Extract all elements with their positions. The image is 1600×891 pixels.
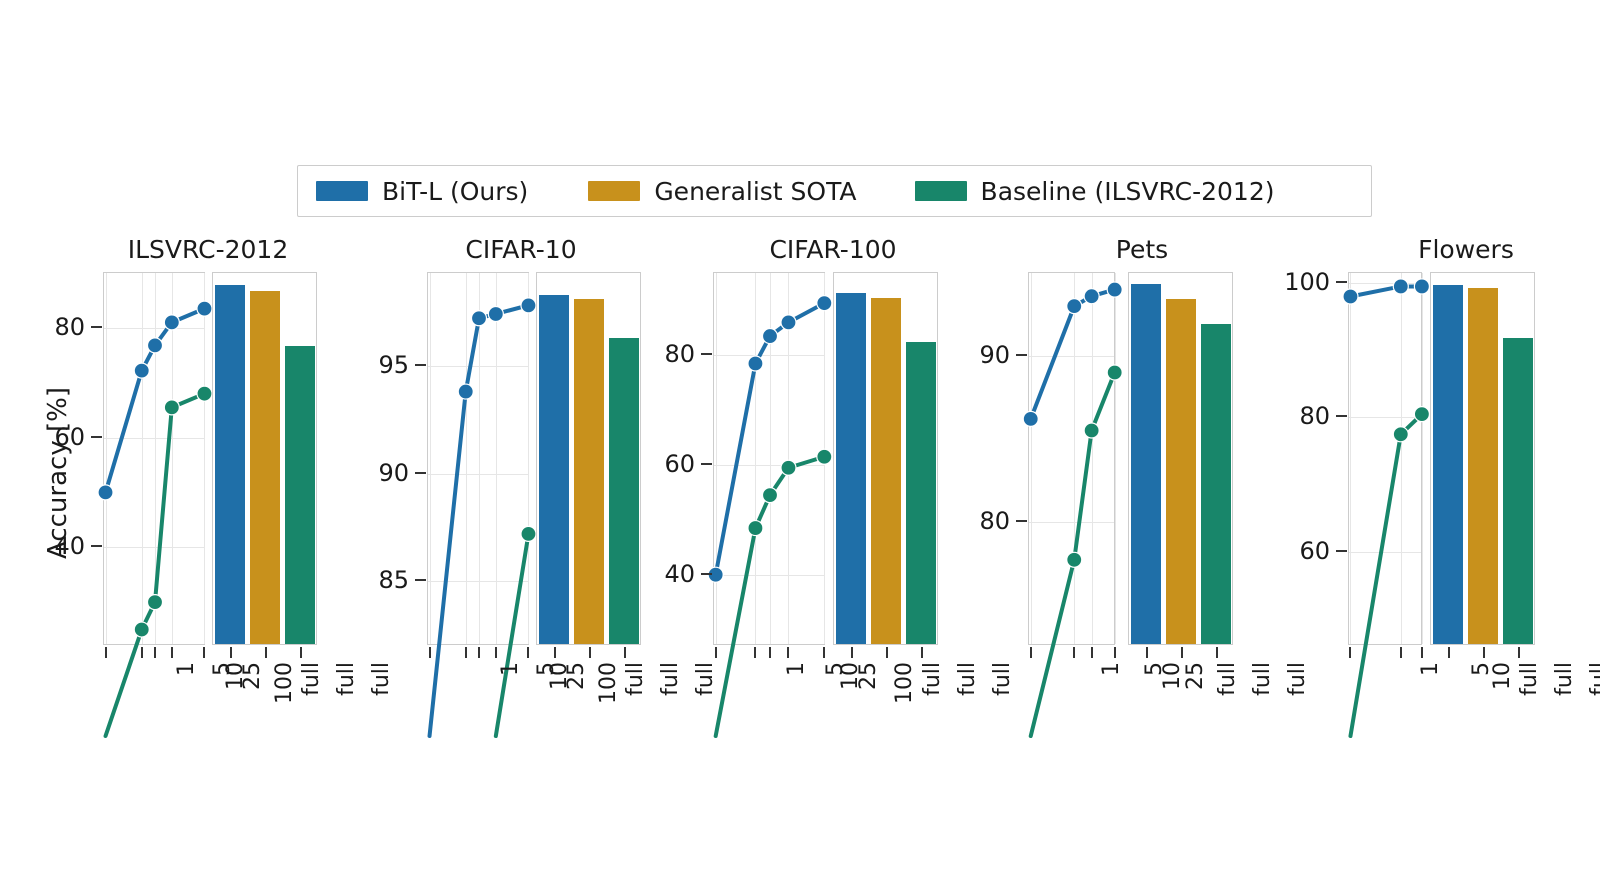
line-series-group xyxy=(104,273,206,646)
data-point xyxy=(458,384,473,399)
line-series-group xyxy=(714,273,826,646)
data-point xyxy=(1084,423,1099,438)
data-point xyxy=(148,595,163,610)
x-tick-label: full xyxy=(693,662,718,722)
y-tick-label: 80 xyxy=(908,507,1010,535)
x-tick-mark xyxy=(823,647,825,658)
x-tick-mark xyxy=(429,647,431,658)
x-tick-mark xyxy=(171,647,173,658)
legend-entry-bit_l[interactable]: BiT-L (Ours) xyxy=(316,177,528,206)
x-tick-mark xyxy=(1518,647,1520,658)
x-tick-mark xyxy=(527,647,529,658)
x-tick-label: full xyxy=(658,662,683,722)
x-tick-label: full xyxy=(299,662,324,722)
x-tick-label: full xyxy=(334,662,359,722)
y-tick-mark xyxy=(701,463,712,465)
x-tick-mark xyxy=(478,647,480,658)
data-point xyxy=(781,460,796,475)
data-point xyxy=(763,329,778,344)
line-path xyxy=(1350,414,1421,736)
x-tick-label: 100 xyxy=(272,662,297,722)
legend-swatch-generalist_sota xyxy=(588,181,640,201)
y-tick-mark xyxy=(1336,281,1347,283)
x-tick-label: 1 xyxy=(498,662,523,722)
y-tick-label: 90 xyxy=(307,459,409,487)
bar-bit-l-ours[interactable] xyxy=(1131,284,1161,644)
x-tick-mark xyxy=(715,647,717,658)
y-tick-mark xyxy=(701,573,712,575)
x-tick-mark xyxy=(1483,647,1485,658)
y-tick-mark xyxy=(91,545,102,547)
x-tick-mark xyxy=(921,647,923,658)
bar-baseline-ilsvrc-2012[interactable] xyxy=(1503,338,1533,644)
x-tick-mark xyxy=(1448,647,1450,658)
line-series-group xyxy=(428,273,530,646)
data-point xyxy=(521,298,536,313)
bar-baseline-ilsvrc-2012[interactable] xyxy=(1201,324,1231,644)
panel-title-pets: Pets xyxy=(992,235,1292,264)
x-tick-mark xyxy=(851,647,853,658)
data-point xyxy=(817,296,832,311)
data-point xyxy=(1084,289,1099,304)
x-tick-label: 10 xyxy=(1160,662,1185,722)
y-tick-mark xyxy=(1016,520,1027,522)
data-point xyxy=(134,622,149,637)
bar-bit-l-ours[interactable] xyxy=(215,285,245,644)
y-tick-mark xyxy=(1336,415,1347,417)
x-tick-mark xyxy=(554,647,556,658)
y-tick-mark xyxy=(415,579,426,581)
y-tick-label: 80 xyxy=(593,340,695,368)
legend-label-bit_l: BiT-L (Ours) xyxy=(382,177,528,206)
x-tick-mark xyxy=(1091,647,1093,658)
y-tick-mark xyxy=(1336,550,1347,552)
data-point xyxy=(472,311,487,326)
bar-bit-l-ours[interactable] xyxy=(1433,285,1463,644)
line-series-group xyxy=(1029,273,1116,646)
bar-generalist-sota[interactable] xyxy=(1468,288,1498,644)
x-tick-mark xyxy=(1216,647,1218,658)
legend-label-baseline: Baseline (ILSVRC-2012) xyxy=(981,177,1275,206)
x-tick-mark xyxy=(589,647,591,658)
y-tick-label: 40 xyxy=(593,560,695,588)
data-point xyxy=(148,338,163,353)
legend: BiT-L (Ours)Generalist SOTABaseline (ILS… xyxy=(297,165,1372,217)
x-tick-label: full xyxy=(920,662,945,722)
line-series-group xyxy=(1349,273,1423,646)
x-tick-label: full xyxy=(1552,662,1577,722)
y-tick-mark xyxy=(91,436,102,438)
data-point xyxy=(817,449,832,464)
x-tick-label: 10 xyxy=(1490,662,1515,722)
data-point xyxy=(197,301,212,316)
legend-swatch-baseline xyxy=(915,181,967,201)
bar-axes-ilsvrc-2012 xyxy=(212,272,317,645)
data-point xyxy=(521,526,536,541)
x-tick-label: 100 xyxy=(892,662,917,722)
x-tick-label: 1 xyxy=(784,662,809,722)
data-point xyxy=(1107,282,1122,297)
legend-swatch-bit_l xyxy=(316,181,368,201)
data-point xyxy=(708,567,723,582)
x-tick-mark xyxy=(465,647,467,658)
x-tick-mark xyxy=(300,647,302,658)
x-tick-label: full xyxy=(1587,662,1600,722)
x-tick-mark xyxy=(1073,647,1075,658)
data-point xyxy=(1023,411,1038,426)
legend-entry-generalist_sota[interactable]: Generalist SOTA xyxy=(588,177,856,206)
bar-bit-l-ours[interactable] xyxy=(539,295,569,644)
x-tick-label: 25 xyxy=(1183,662,1208,722)
x-tick-mark xyxy=(624,647,626,658)
data-point xyxy=(763,488,778,503)
data-point xyxy=(164,315,179,330)
bar-generalist-sota[interactable] xyxy=(250,291,280,644)
y-tick-label: 95 xyxy=(307,351,409,379)
y-tick-label: 80 xyxy=(1228,402,1330,430)
bar-bit-l-ours[interactable] xyxy=(836,293,866,644)
line-axes-pets xyxy=(1028,272,1115,645)
data-point xyxy=(1067,552,1082,567)
x-tick-label: 1 xyxy=(174,662,199,722)
y-tick-mark xyxy=(1016,354,1027,356)
panel-title-cifar-100: CIFAR-100 xyxy=(683,235,983,264)
x-tick-label: full xyxy=(990,662,1015,722)
bar-baseline-ilsvrc-2012[interactable] xyxy=(285,346,315,644)
figure-canvas: BiT-L (Ours)Generalist SOTABaseline (ILS… xyxy=(0,0,1600,891)
x-tick-label: 1 xyxy=(1418,662,1443,722)
bar-baseline-ilsvrc-2012[interactable] xyxy=(906,342,936,644)
x-tick-label: 1 xyxy=(1099,662,1124,722)
data-point xyxy=(748,521,763,536)
x-tick-mark xyxy=(1421,647,1423,658)
bar-generalist-sota[interactable] xyxy=(871,298,901,644)
data-point xyxy=(748,356,763,371)
x-tick-label: full xyxy=(369,662,394,722)
x-tick-mark xyxy=(495,647,497,658)
data-point xyxy=(1343,289,1358,304)
data-point xyxy=(1393,427,1408,442)
x-tick-label: full xyxy=(1517,662,1542,722)
x-tick-label: full xyxy=(623,662,648,722)
data-point xyxy=(488,306,503,321)
data-point xyxy=(1067,299,1082,314)
x-tick-label: full xyxy=(1250,662,1275,722)
data-point xyxy=(1107,365,1122,380)
x-tick-label: 25 xyxy=(240,662,265,722)
x-tick-mark xyxy=(787,647,789,658)
panel-title-flowers: Flowers xyxy=(1316,235,1600,264)
x-tick-mark xyxy=(769,647,771,658)
data-point xyxy=(1414,279,1429,294)
x-tick-mark xyxy=(265,647,267,658)
data-point xyxy=(781,315,796,330)
bar-axes-cifar-100 xyxy=(833,272,938,645)
data-point xyxy=(1393,279,1408,294)
y-tick-label: 100 xyxy=(1228,268,1330,296)
x-tick-mark xyxy=(754,647,756,658)
panel-title-cifar-10: CIFAR-10 xyxy=(371,235,671,264)
legend-entry-baseline[interactable]: Baseline (ILSVRC-2012) xyxy=(915,177,1275,206)
line-axes-flowers xyxy=(1348,272,1422,645)
x-tick-label: full xyxy=(1285,662,1310,722)
x-tick-mark xyxy=(1349,647,1351,658)
bar-generalist-sota[interactable] xyxy=(1166,299,1196,644)
data-point xyxy=(1414,407,1429,422)
y-tick-label: 40 xyxy=(0,532,85,560)
x-tick-mark xyxy=(141,647,143,658)
y-tick-mark xyxy=(701,353,712,355)
x-tick-mark xyxy=(230,647,232,658)
x-tick-mark xyxy=(1181,647,1183,658)
y-tick-mark xyxy=(415,364,426,366)
bar-axes-pets xyxy=(1128,272,1233,645)
y-tick-label: 60 xyxy=(0,423,85,451)
line-axes-cifar-10 xyxy=(427,272,529,645)
data-point xyxy=(197,386,212,401)
data-point xyxy=(134,363,149,378)
bar-baseline-ilsvrc-2012[interactable] xyxy=(609,338,639,644)
y-tick-mark xyxy=(415,472,426,474)
x-tick-label: full xyxy=(1215,662,1240,722)
data-point xyxy=(98,485,113,500)
x-tick-mark xyxy=(154,647,156,658)
y-tick-mark xyxy=(91,326,102,328)
y-tick-label: 80 xyxy=(0,313,85,341)
line-axes-ilsvrc-2012 xyxy=(103,272,205,645)
x-tick-label: 100 xyxy=(596,662,621,722)
y-tick-label: 60 xyxy=(593,450,695,478)
legend-label-generalist_sota: Generalist SOTA xyxy=(654,177,856,206)
panel-title-ilsvrc-2012: ILSVRC-2012 xyxy=(58,235,358,264)
x-tick-mark xyxy=(203,647,205,658)
x-tick-label: full xyxy=(955,662,980,722)
x-tick-mark xyxy=(1114,647,1116,658)
x-tick-label: 25 xyxy=(856,662,881,722)
x-tick-mark xyxy=(1146,647,1148,658)
line-axes-cifar-100 xyxy=(713,272,825,645)
line-path xyxy=(1350,286,1421,296)
data-point xyxy=(164,400,179,415)
y-tick-label: 85 xyxy=(307,566,409,594)
x-tick-mark xyxy=(105,647,107,658)
x-tick-mark xyxy=(1030,647,1032,658)
bar-axes-flowers xyxy=(1430,272,1535,645)
y-tick-label: 60 xyxy=(1228,537,1330,565)
x-tick-mark xyxy=(1400,647,1402,658)
x-tick-mark xyxy=(886,647,888,658)
x-tick-label: 25 xyxy=(564,662,589,722)
y-tick-label: 90 xyxy=(908,341,1010,369)
